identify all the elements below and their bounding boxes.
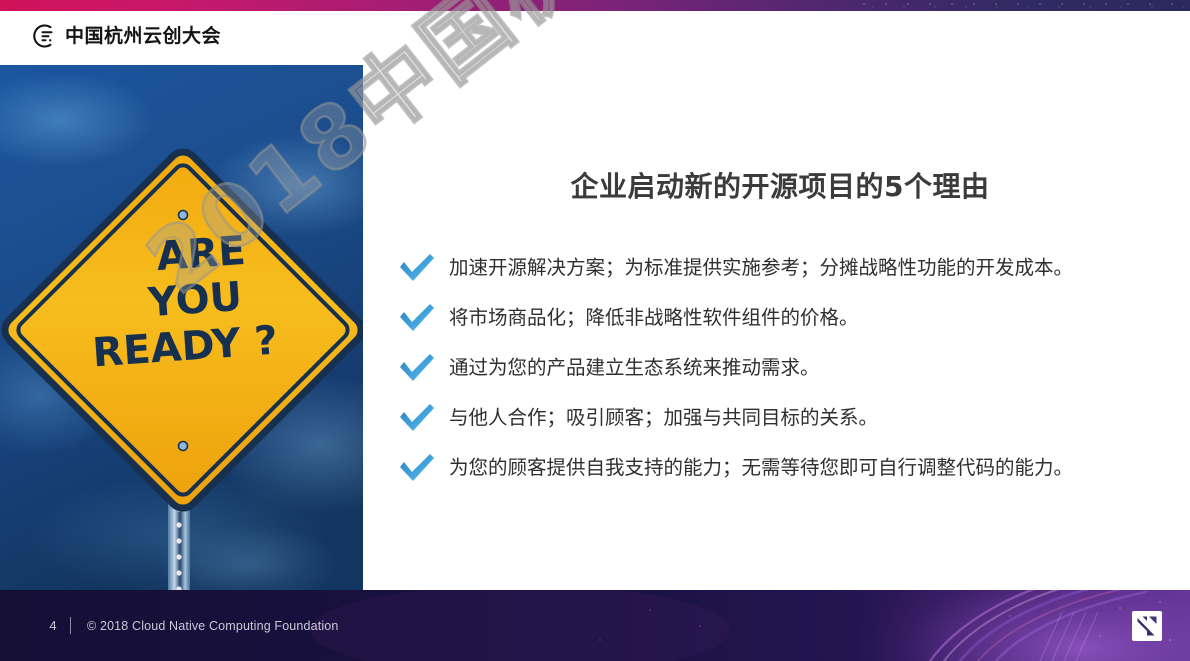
road-sign-illustration: ARE YOU READY ? (0, 65, 366, 590)
are-you-ready-road-sign-image: ARE YOU READY ? (0, 65, 366, 590)
footer-divider (70, 617, 71, 634)
list-item-label: 加速开源解决方案；为标准提供实施参考；分摊战略性功能的开发成本。 (449, 255, 1073, 280)
list-item: 与他人合作；吸引顾客；加强与共同目标的关系。 (398, 393, 1178, 443)
check-icon (398, 253, 436, 283)
cncf-mark-icon (1136, 615, 1158, 637)
list-item-label: 为您的顾客提供自我支持的能力；无需等待您即可自行调整代码的能力。 (449, 455, 1073, 480)
check-icon (398, 403, 436, 433)
footer-meta: 4 © 2018 Cloud Native Computing Foundati… (42, 590, 338, 661)
footer-logo (1132, 611, 1162, 641)
list-item: 将市场商品化；降低非战略性软件组件的价格。 (398, 293, 1178, 343)
page-number: 4 (42, 618, 64, 633)
list-item: 为您的顾客提供自我支持的能力；无需等待您即可自行调整代码的能力。 (398, 443, 1178, 493)
list-item-label: 与他人合作；吸引顾客；加强与共同目标的关系。 (449, 405, 878, 430)
page-title: 企业启动新的开源项目的5个理由 (380, 165, 1180, 205)
brand-logo: 中国杭州云创大会 (30, 22, 221, 50)
check-icon (398, 353, 436, 383)
list-item-label: 将市场商品化；降低非战略性软件组件的价格。 (449, 305, 859, 330)
copyright-text: © 2018 Cloud Native Computing Foundation (87, 619, 338, 633)
header: 中国杭州云创大会 (0, 11, 1190, 63)
footer: 4 © 2018 Cloud Native Computing Foundati… (0, 590, 1190, 661)
top-gradient-bar (0, 0, 1190, 11)
list-item: 通过为您的产品建立生态系统来推动需求。 (398, 343, 1178, 393)
bullet-list: 加速开源解决方案；为标准提供实施参考；分摊战略性功能的开发成本。 将市场商品化；… (398, 243, 1178, 493)
topbar-dot-texture (860, 0, 1190, 11)
svg-text:ARE: ARE (155, 228, 247, 280)
brand-name: 中国杭州云创大会 (65, 22, 221, 50)
check-icon (398, 453, 436, 483)
svg-text:YOU: YOU (146, 274, 244, 327)
check-icon (398, 303, 436, 333)
list-item-label: 通过为您的产品建立生态系统来推动需求。 (449, 355, 820, 380)
slide: 中国杭州云创大会 (0, 0, 1190, 661)
speed-arc-icon (30, 22, 58, 50)
list-item: 加速开源解决方案；为标准提供实施参考；分摊战略性功能的开发成本。 (398, 243, 1178, 293)
main-content: 企业启动新的开源项目的5个理由 加速开源解决方案；为标准提供实施参考；分摊战略性… (380, 65, 1190, 590)
